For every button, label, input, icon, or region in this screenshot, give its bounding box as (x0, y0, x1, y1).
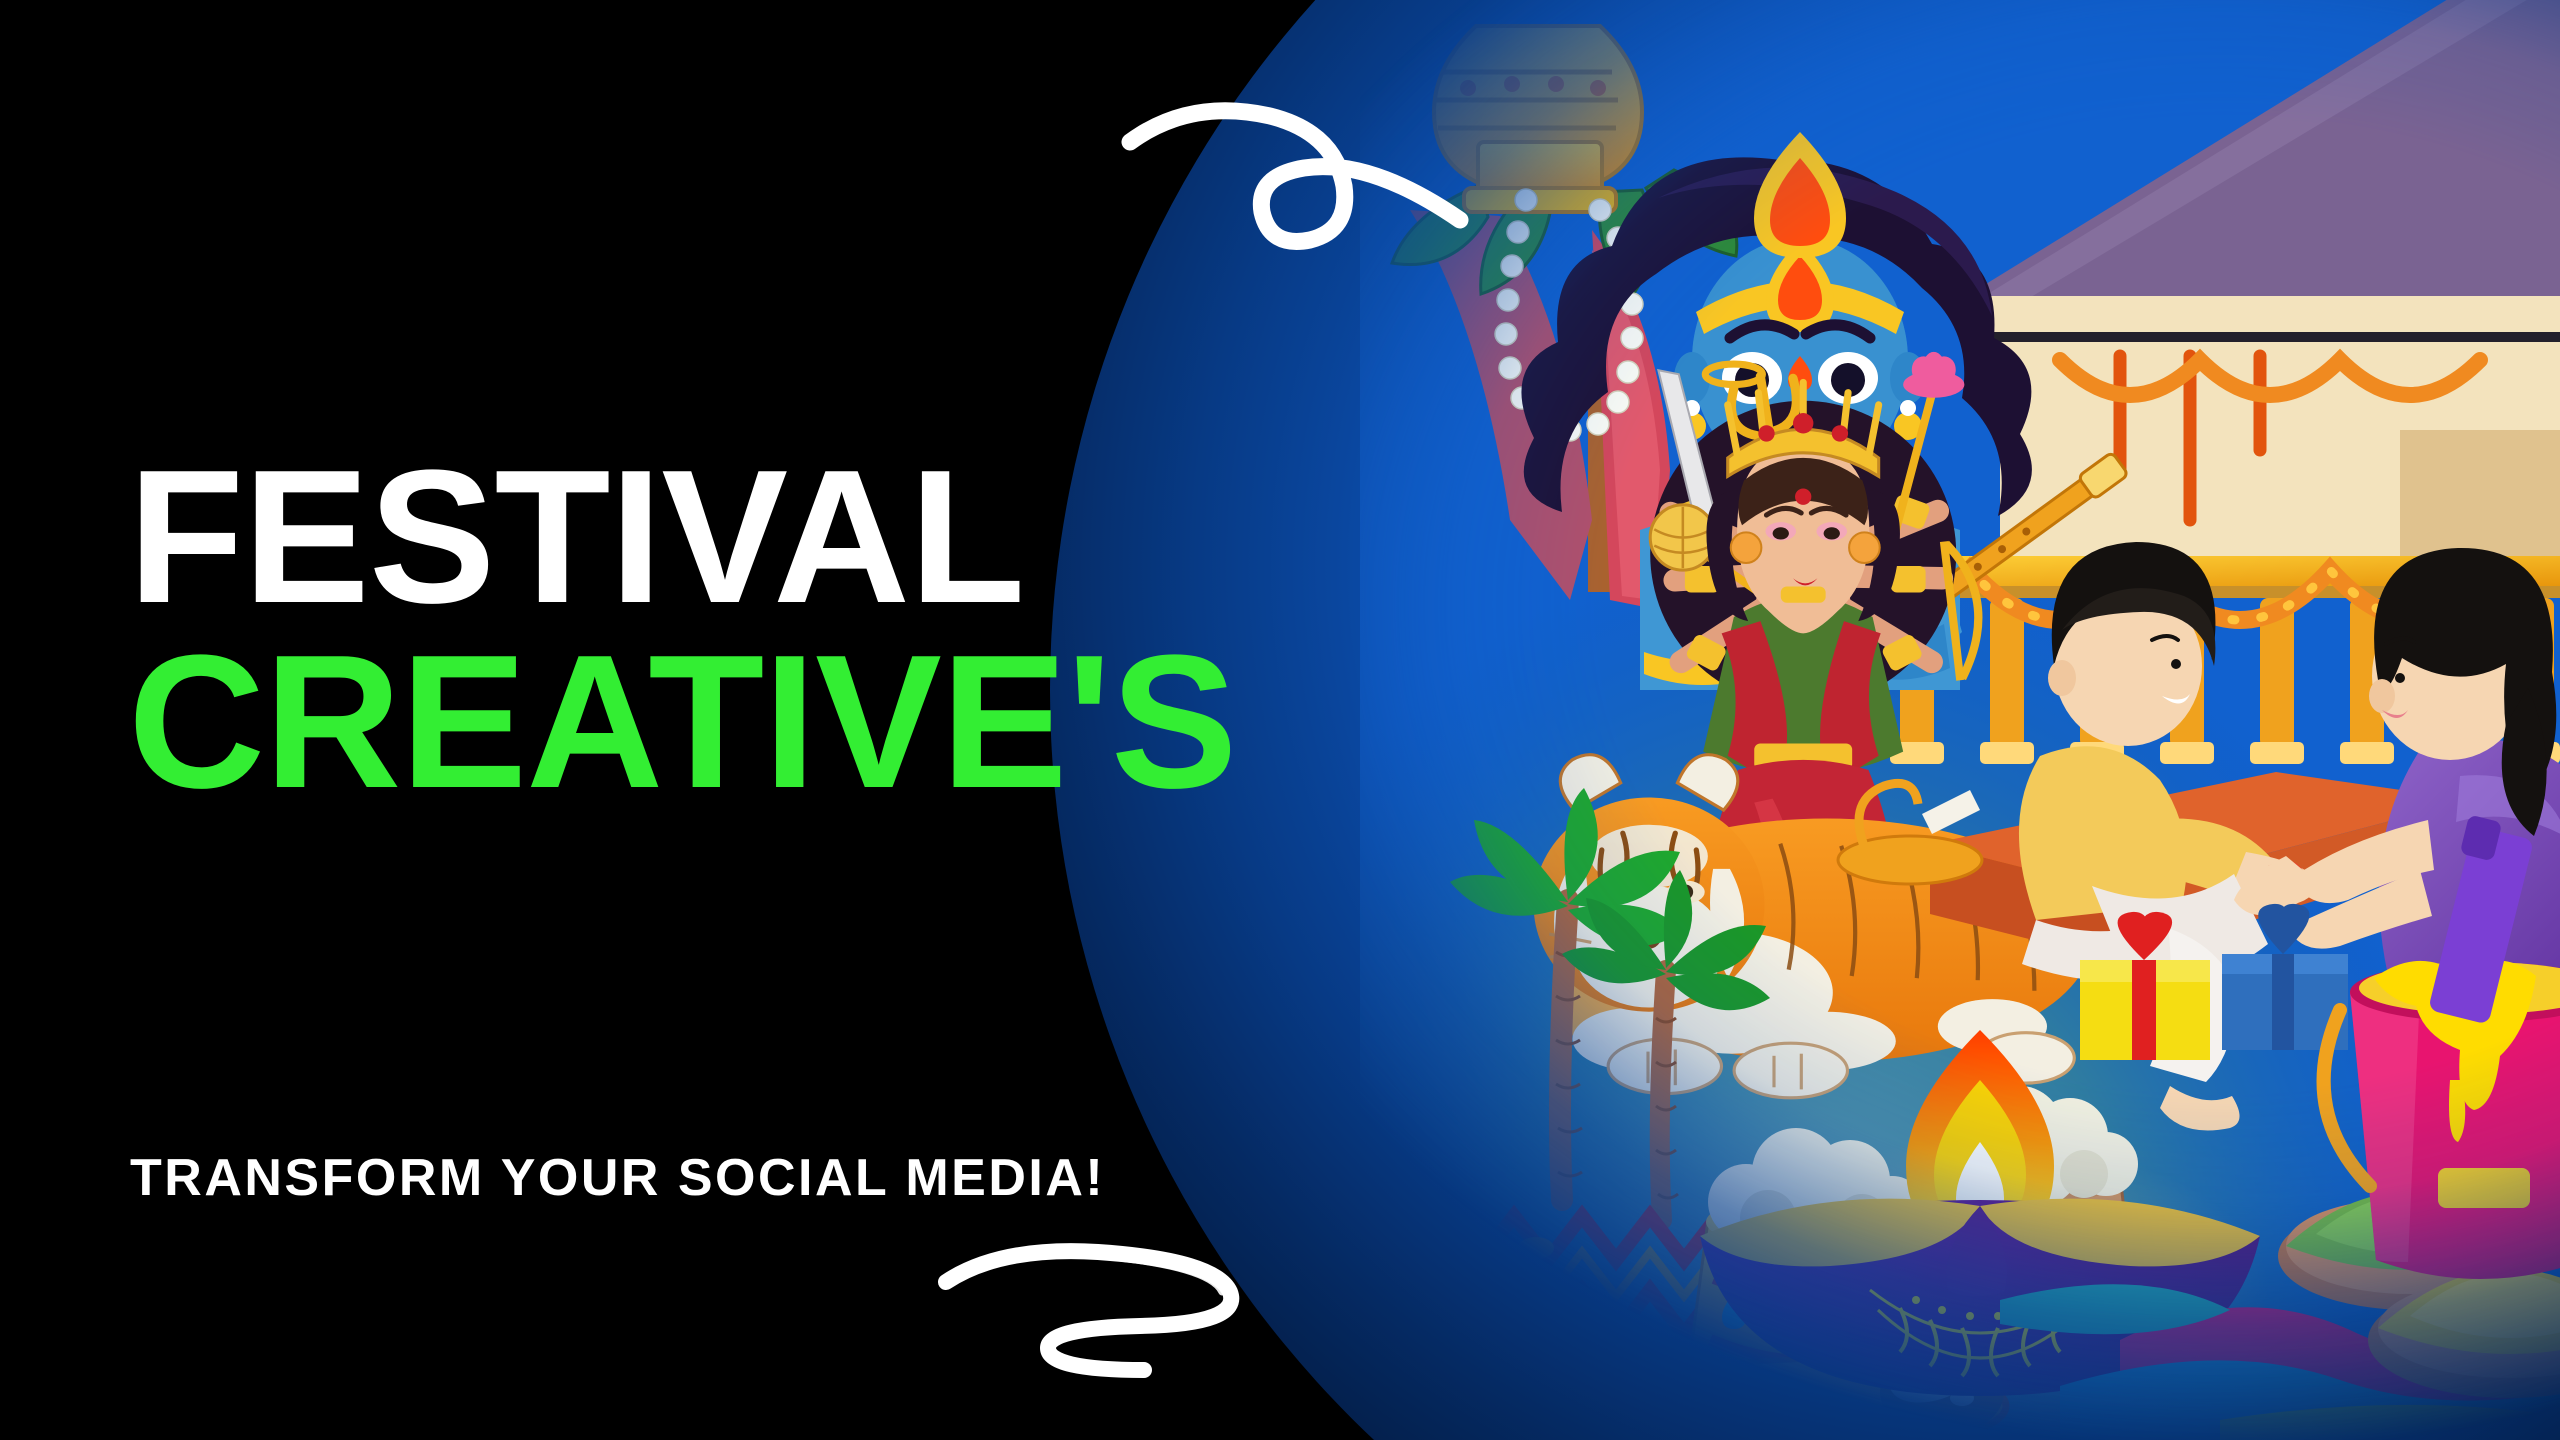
festival-banner: FESTIVAL CREATIVE'S TRANSFORM YOUR SOCIA… (0, 0, 2560, 1440)
brush-swirl-icon (930, 1238, 1270, 1388)
copy-block: FESTIVAL CREATIVE'S TRANSFORM YOUR SOCIA… (0, 0, 1240, 1440)
title-line-2: CREATIVE'S (128, 641, 1228, 804)
title-line-1: FESTIVAL (128, 456, 1228, 619)
page-subtitle: TRANSFORM YOUR SOCIAL MEDIA! (130, 1148, 1105, 1208)
artwork-illustration (1360, 0, 2560, 1440)
curly-loop-icon (1120, 80, 1480, 260)
artwork-plate (1360, 0, 2560, 1440)
page-title: FESTIVAL CREATIVE'S (128, 456, 1228, 805)
